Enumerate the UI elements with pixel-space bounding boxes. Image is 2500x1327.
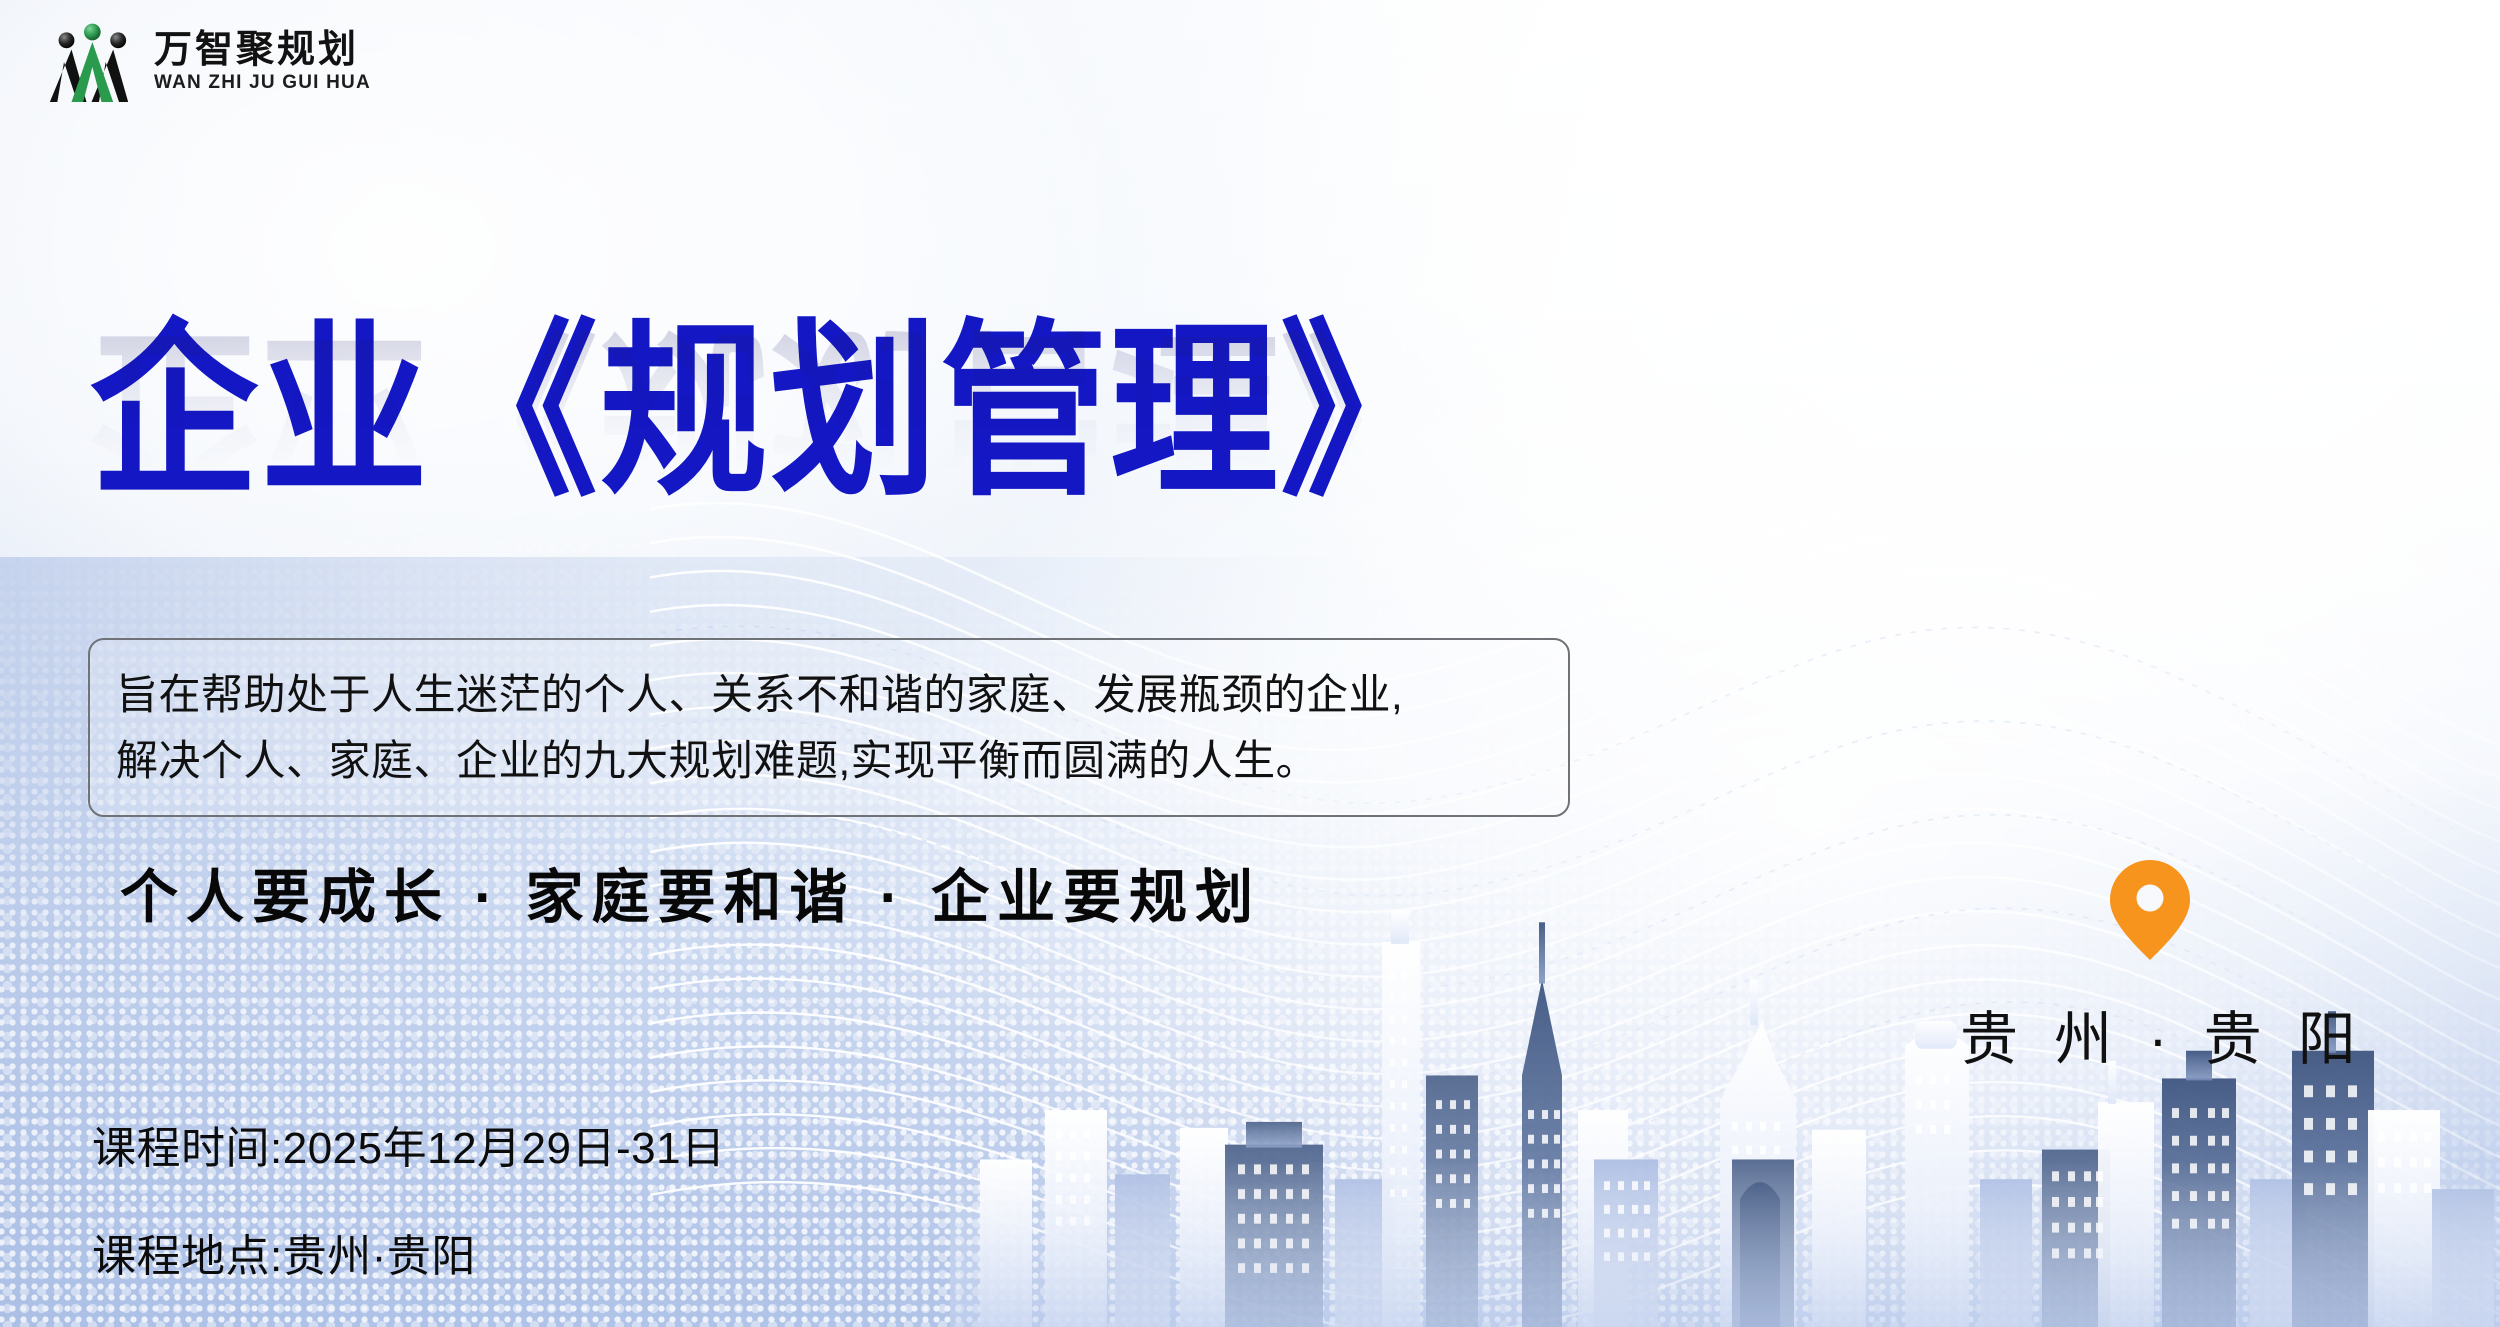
brand-logo[interactable]: 万智聚规划 WAN ZHI JU GUI HUA (48, 22, 371, 102)
course-time-row: 课程时间:2025年12月29日-31日 (92, 1112, 726, 1176)
page-title-reflection: 企业《规划管理》 (90, 320, 1450, 508)
course-info: 课程时间:2025年12月29日-31日 课程地点:贵州·贵阳 (92, 1112, 726, 1284)
description-line-2: 解决个人、家庭、企业的九大规划难题,实现平衡而圆满的人生。 (116, 728, 1542, 794)
three-people-logo-icon (48, 22, 140, 102)
poster-content: 万智聚规划 WAN ZHI JU GUI HUA 企业《规划管理》 企业《规划管… (0, 0, 2500, 1327)
brand-name-cn: 万智聚规划 (154, 31, 371, 71)
location-block: 贵 州 · 贵 阳 (1960, 858, 2340, 1076)
tagline: 个人要成长 · 家庭要和谐 · 企业要规划 (120, 850, 1261, 934)
hero-title-wrap: 企业《规划管理》 企业《规划管理》 (90, 318, 1450, 486)
description-box: 旨在帮助处于人生迷茫的个人、关系不和谐的家庭、发展瓶颈的企业, 解决个人、家庭、… (88, 638, 1570, 817)
map-pin-icon (2108, 858, 2192, 962)
brand-name-en: WAN ZHI JU GUI HUA (154, 73, 371, 93)
brand-logo-text: 万智聚规划 WAN ZHI JU GUI HUA (154, 31, 371, 93)
location-label: 贵 州 · 贵 阳 (1960, 992, 2340, 1076)
description-line-1: 旨在帮助处于人生迷茫的个人、关系不和谐的家庭、发展瓶颈的企业, (116, 662, 1542, 728)
poster-canvas: 万智聚规划 WAN ZHI JU GUI HUA 企业《规划管理》 企业《规划管… (0, 0, 2500, 1327)
course-place-row: 课程地点:贵州·贵阳 (92, 1220, 726, 1284)
